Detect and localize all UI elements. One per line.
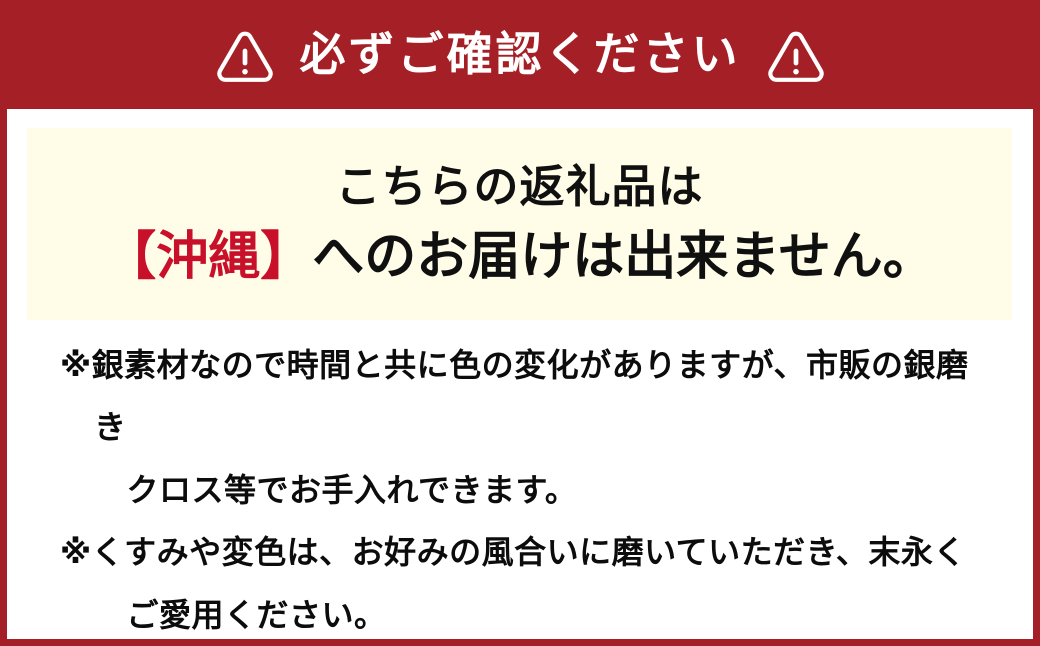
warning-triangle-icon: [767, 28, 825, 82]
notice-line-2: 【沖縄】へのお届けは出来ません。: [104, 229, 934, 286]
notes-list: ※銀素材なので時間と共に色の変化がありますが、市販の銀磨き クロス等でお手入れで…: [60, 334, 990, 646]
note-item: ※くすみや変色は、お好みの風合いに磨いていただき、末永く ご愛用ください。: [60, 521, 990, 646]
shipping-restriction-box: こちらの返礼品は 【沖縄】へのお届けは出来ません。: [27, 128, 1012, 320]
frame-border-left: [0, 108, 7, 646]
notice-line-2-rest: へのお届けは出来ません。: [312, 228, 934, 286]
okinawa-highlight: 【沖縄】: [104, 228, 312, 286]
warning-triangle-icon: [216, 28, 274, 82]
notice-page: 必ずご確認ください こちらの返礼品は 【沖縄】へのお届けは出来ません。 ※銀素材…: [0, 0, 1040, 646]
frame-border-right: [1033, 108, 1040, 646]
note-item: ※銀素材なので時間と共に色の変化がありますが、市販の銀磨き クロス等でお手入れで…: [60, 334, 990, 521]
notice-line-1: こちらの返礼品は: [335, 162, 703, 212]
banner-title: 必ずご確認ください: [300, 31, 741, 79]
warning-banner: 必ずご確認ください: [0, 0, 1040, 109]
